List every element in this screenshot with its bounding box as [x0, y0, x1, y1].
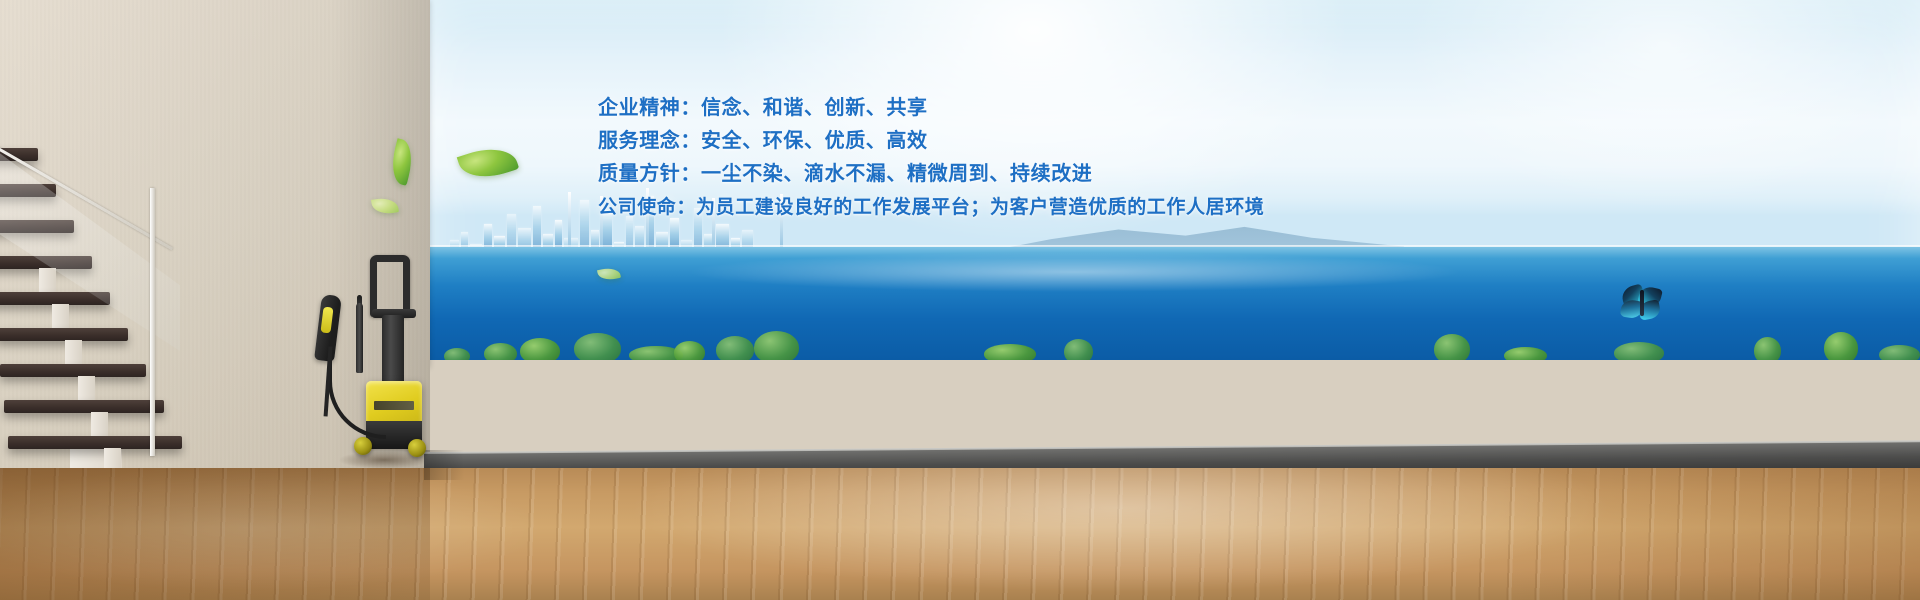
tree — [520, 338, 560, 360]
stair-step — [4, 400, 164, 413]
tree — [1879, 345, 1920, 360]
stair-riser — [65, 340, 82, 366]
tree — [716, 336, 754, 360]
stair-step — [8, 436, 182, 449]
pressure-washer-handle — [370, 255, 410, 317]
tree — [1064, 339, 1093, 360]
tree — [1614, 342, 1664, 360]
pressure-washer-wheel-right — [408, 439, 426, 457]
tree — [1504, 347, 1547, 360]
ocean-sun-glint — [684, 252, 1464, 292]
wall-floor-corner-shadow — [424, 450, 464, 480]
mission-line-mission: 公司使命：为员工建设良好的工作发展平台；为客户营造优质的工作人居环境 — [598, 191, 1498, 224]
pressure-washer-wheel-left — [354, 437, 372, 455]
stair-riser — [39, 268, 56, 294]
banner-stage: 企业精神：信念、和谐、创新、共享 服务理念：安全、环保、优质、高效 质量方针：一… — [0, 0, 1920, 600]
butterfly — [1620, 286, 1664, 322]
tree — [1754, 337, 1781, 360]
mission-line-spirit: 企业精神：信念、和谐、创新、共享 — [598, 92, 1498, 125]
mission-text-block: 企业精神：信念、和谐、创新、共享 服务理念：安全、环保、优质、高效 质量方针：一… — [598, 92, 1498, 224]
interior-room — [0, 0, 1920, 600]
tree — [444, 348, 470, 360]
mission-line-quality: 质量方针：一尘不染、滴水不漏、精微周到、持续改进 — [598, 158, 1498, 191]
tree — [574, 333, 621, 360]
stair-step — [0, 364, 146, 377]
tree — [754, 331, 799, 360]
handrail-post — [150, 188, 155, 456]
tree — [1824, 332, 1858, 360]
pressure-washer — [312, 255, 430, 465]
stair-riser — [52, 304, 69, 330]
tree-line — [424, 320, 1920, 360]
tree — [674, 341, 705, 360]
stair-riser — [78, 376, 95, 402]
butterfly-body — [1640, 290, 1644, 316]
floor-left-shadow — [0, 468, 430, 600]
stair-riser — [91, 412, 108, 438]
tree — [484, 343, 517, 360]
tree — [984, 344, 1036, 360]
mission-line-service: 服务理念：安全、环保、优质、高效 — [598, 125, 1498, 158]
stair-step — [0, 328, 128, 341]
tree — [1434, 334, 1470, 360]
